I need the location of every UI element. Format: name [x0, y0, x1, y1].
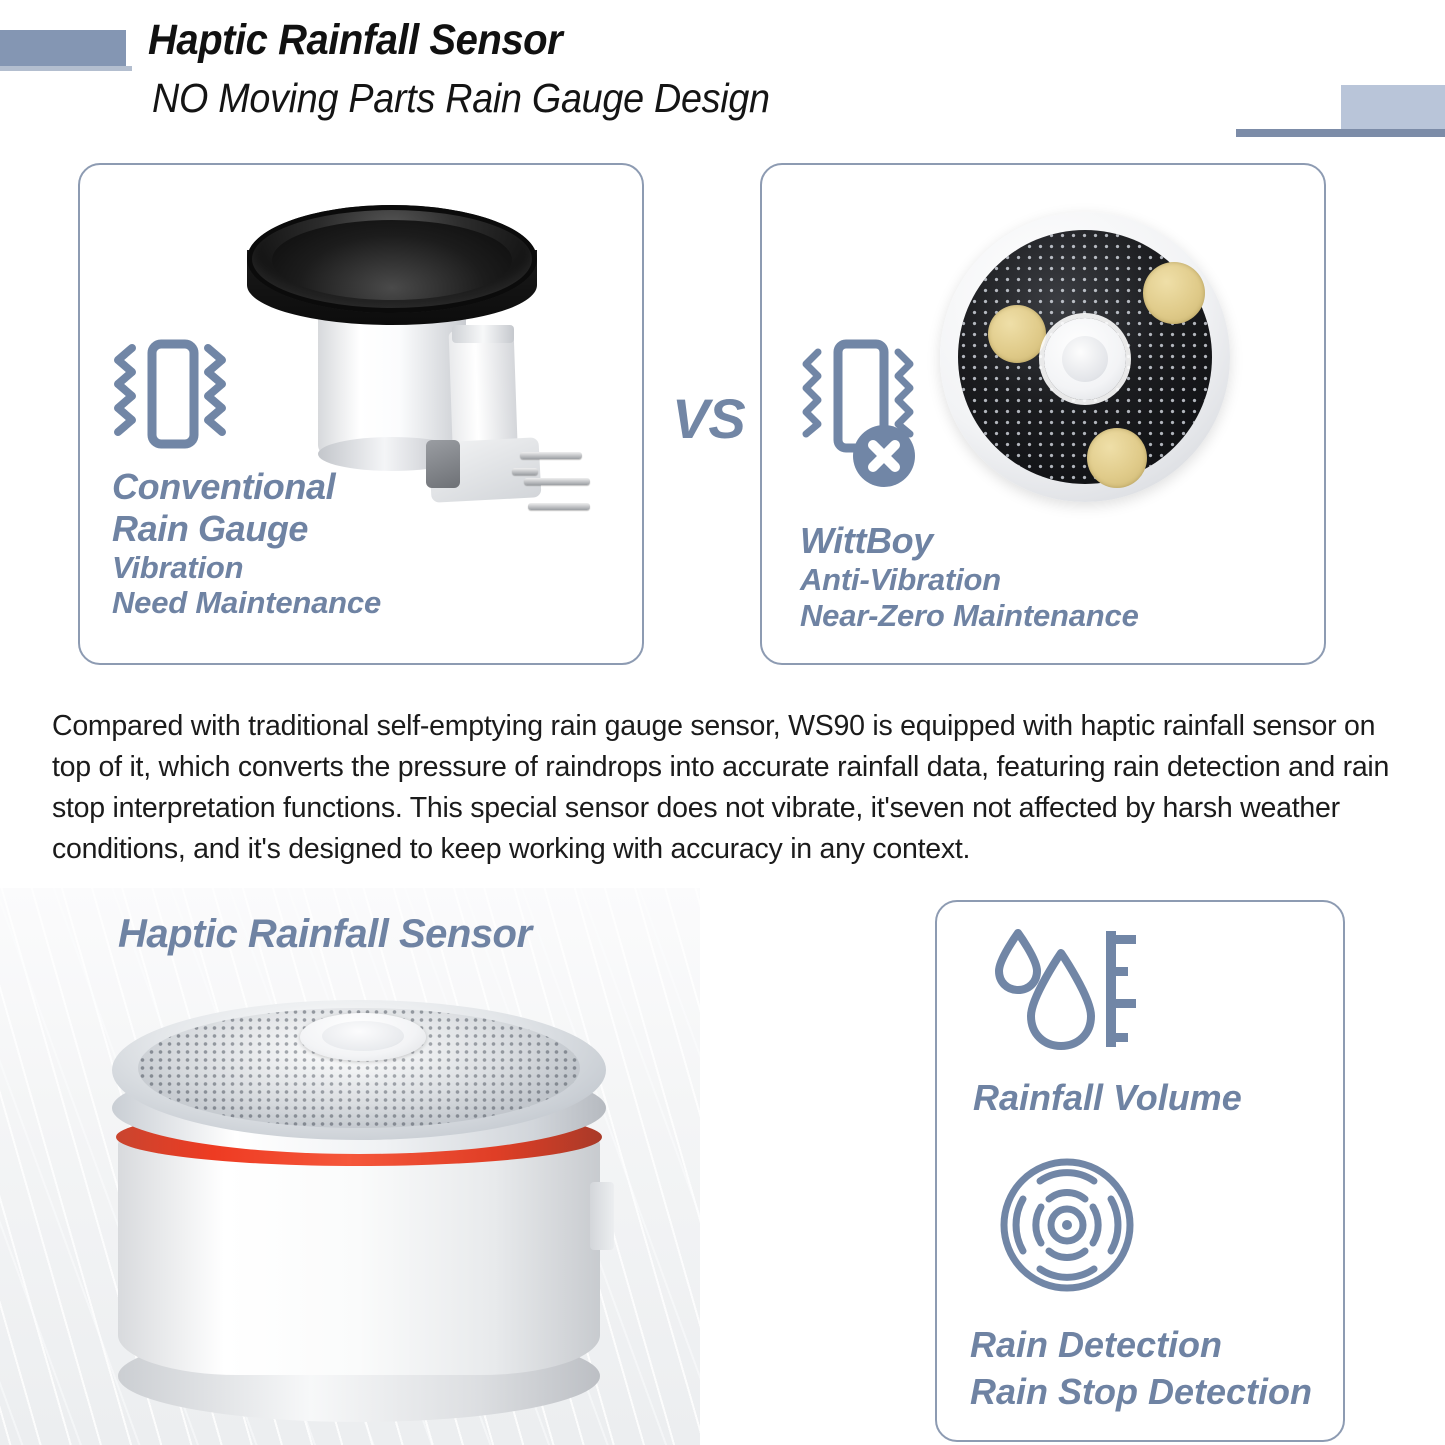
- sensor-white-body: [118, 1135, 600, 1375]
- description-paragraph: Compared with traditional self-emptying …: [52, 706, 1404, 870]
- header-accent-bar-right: [1341, 85, 1445, 129]
- rain-detection-waves-icon: [996, 1155, 1140, 1295]
- showcase-title: Haptic Rainfall Sensor: [118, 912, 532, 957]
- raindrop-gauge-icon: [993, 925, 1138, 1053]
- feature-label-rain-detection: Rain Detection: [970, 1325, 1222, 1365]
- header-accent-rule-right: [1236, 129, 1445, 137]
- conventional-card-text: Conventional Rain Gauge Vibration Need M…: [112, 466, 381, 621]
- disc-center-lens: [1062, 336, 1108, 382]
- conventional-trait-line1: Vibration: [112, 550, 381, 586]
- anti-vibration-icon: [798, 338, 920, 490]
- feature-label-rainfall-volume: Rainfall Volume: [973, 1078, 1242, 1118]
- disc-gold-pad-1: [1143, 262, 1205, 324]
- disc-gold-pad-2: [988, 305, 1046, 363]
- infographic-page: Haptic Rainfall Sensor NO Moving Parts R…: [0, 0, 1445, 1445]
- page-title: Haptic Rainfall Sensor: [148, 16, 562, 65]
- connector-pin-4: [512, 468, 538, 475]
- sensor-side-tab: [590, 1182, 614, 1250]
- connector-pin-2: [524, 478, 590, 485]
- wittboy-card-text: WittBoy Anti-Vibration Near-Zero Mainten…: [800, 520, 1139, 634]
- header-accent-bar-left-shadow: [0, 66, 132, 71]
- page-subtitle: NO Moving Parts Rain Gauge Design: [152, 75, 770, 122]
- conventional-name-line1: Conventional: [112, 466, 381, 508]
- wittboy-trait-line1: Anti-Vibration: [800, 562, 1139, 598]
- conventional-trait-line2: Need Maintenance: [112, 585, 381, 621]
- gauge-connector-dark-block: [426, 440, 460, 488]
- connector-pin-1: [520, 452, 582, 459]
- header-accent-bar-left: [0, 30, 126, 66]
- disc-gold-pad-3: [1087, 428, 1147, 488]
- wittboy-trait-line2: Near-Zero Maintenance: [800, 598, 1139, 634]
- connector-pin-3: [528, 503, 590, 510]
- conventional-name-line2: Rain Gauge: [112, 508, 381, 550]
- sensor-center-lens: [322, 1021, 404, 1051]
- funnel-inner-bowl: [272, 220, 512, 300]
- gauge-connector-cap: [452, 325, 514, 343]
- versus-label: VS: [672, 386, 745, 451]
- wittboy-name-line1: WittBoy: [800, 520, 1139, 562]
- feature-label-rain-stop-detection: Rain Stop Detection: [970, 1372, 1312, 1412]
- vibration-icon: [108, 338, 230, 450]
